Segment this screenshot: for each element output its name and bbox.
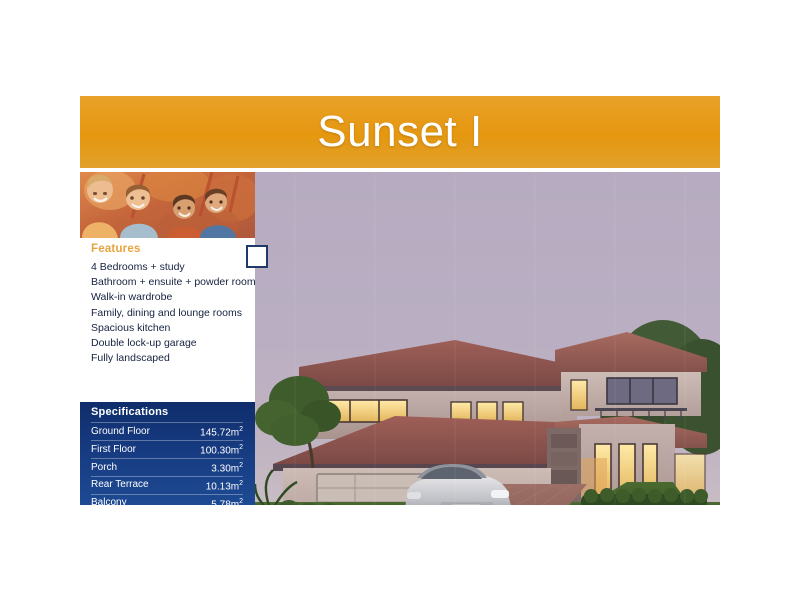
specifications-heading: Specifications (91, 406, 168, 418)
table-row: Total Area 275.48m2 (91, 512, 243, 529)
feature-item: Fully landscaped (91, 351, 267, 366)
spec-value-exponent: 2 (239, 480, 243, 487)
spec-label: Balcony (91, 494, 179, 512)
spec-value-text: 145.72m (200, 427, 239, 438)
feature-item: Bathroom + ensuite + powder room (91, 275, 267, 290)
spec-value-exponent: 2 (239, 516, 243, 523)
table-row: Ground Floor 145.72m2 (91, 423, 243, 441)
feature-item: Family, dining and lounge rooms (91, 306, 267, 321)
spec-label: Total Area (91, 512, 179, 529)
feature-item: Walk-in wardrobe (91, 290, 267, 305)
page-title: Sunset I (80, 96, 720, 168)
house-render-illustration (255, 172, 720, 505)
feature-item: Double lock-up garage (91, 336, 267, 351)
spec-label: Ground Floor (91, 423, 179, 441)
brochure-page: Sunset I (0, 0, 800, 600)
spec-value-text: 100.30m (200, 445, 239, 456)
spec-value-text: 10.13m (206, 481, 239, 492)
spec-value: 275.48m2 (179, 512, 243, 529)
image-placeholder-box (246, 245, 268, 268)
spec-value: 100.30m2 (179, 440, 243, 458)
spec-value-exponent: 2 (239, 498, 243, 505)
spec-value: 145.72m2 (179, 423, 243, 441)
specifications-table: Ground Floor 145.72m2 First Floor 100.30… (91, 422, 243, 530)
feature-item: 4 Bedrooms + study (91, 260, 267, 275)
spec-label: First Floor (91, 440, 179, 458)
features-heading: Features (91, 243, 141, 255)
spec-value-exponent: 2 (239, 462, 243, 469)
spec-value: 5.78m2 (179, 494, 243, 512)
table-row: Rear Terrace 10.13m2 (91, 476, 243, 494)
spec-value-exponent: 2 (239, 444, 243, 451)
spec-value-text: 275.48m (200, 517, 239, 528)
table-row: Balcony 5.78m2 (91, 494, 243, 512)
spec-value-exponent: 2 (239, 426, 243, 433)
spec-label: Rear Terrace (91, 476, 179, 494)
features-list: 4 Bedrooms + study Bathroom + ensuite + … (91, 260, 267, 366)
table-row: Porch 3.30m2 (91, 458, 243, 476)
features-panel: Features 4 Bedrooms + study Bathroom + e… (80, 238, 255, 402)
spec-value-text: 5.78m (211, 499, 239, 510)
feature-item: Spacious kitchen (91, 321, 267, 336)
spec-label: Porch (91, 458, 179, 476)
spec-value: 10.13m2 (179, 476, 243, 494)
spec-value: 3.30m2 (179, 458, 243, 476)
people-photo (80, 172, 255, 238)
house-render-image (255, 172, 720, 505)
table-row: First Floor 100.30m2 (91, 440, 243, 458)
specifications-panel: Specifications Ground Floor 145.72m2 Fir… (80, 402, 255, 505)
spec-value-text: 3.30m (211, 463, 239, 474)
people-photo-illustration (80, 172, 255, 238)
title-banner: Sunset I (80, 96, 720, 168)
